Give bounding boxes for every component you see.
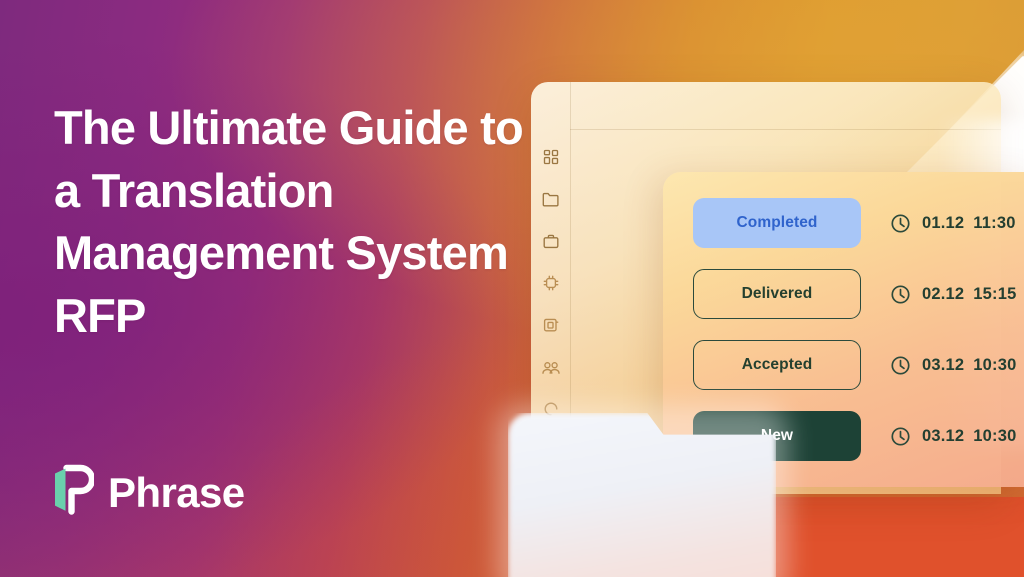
promo-banner: Completed 01.1211:30 Delivered bbox=[0, 0, 1024, 577]
clock-icon bbox=[890, 284, 911, 305]
document-p-icon bbox=[543, 317, 559, 333]
sidebar-item-documents[interactable] bbox=[538, 312, 564, 338]
timestamp-date: 01.12 bbox=[922, 214, 964, 232]
sidebar-item-automation[interactable] bbox=[538, 270, 564, 296]
timestamp-time: 15:15 bbox=[973, 285, 1016, 303]
clock-icon bbox=[890, 355, 911, 376]
brand-name: Phrase bbox=[108, 472, 245, 514]
timestamp-group: 01.1211:30 bbox=[890, 213, 1016, 234]
timestamp-date: 03.12 bbox=[922, 356, 964, 374]
chip-icon bbox=[543, 275, 559, 291]
status-badge[interactable]: Delivered bbox=[693, 269, 861, 319]
timestamp-group: 03.1210:30 bbox=[890, 355, 1017, 376]
status-badge[interactable]: Accepted bbox=[693, 340, 861, 390]
users-icon bbox=[542, 361, 560, 374]
sidebar-item-jobs[interactable] bbox=[538, 228, 564, 254]
clock-icon bbox=[890, 213, 911, 234]
status-row[interactable]: Completed 01.1211:30 bbox=[693, 198, 1024, 248]
brand-logo: Phrase bbox=[52, 464, 245, 521]
sidebar-item-team[interactable] bbox=[538, 354, 564, 380]
grid-dashboard-icon bbox=[543, 149, 559, 165]
page-title: The Ultimate Guide to a Translation Mana… bbox=[54, 97, 534, 347]
orange-block-shape bbox=[754, 497, 1024, 577]
status-row[interactable]: Accepted 03.1210:30 bbox=[693, 340, 1024, 390]
timestamp-text: 02.1215:15 bbox=[922, 285, 1017, 304]
sidebar-item-projects[interactable] bbox=[538, 186, 564, 212]
timestamp-text: 01.1211:30 bbox=[922, 214, 1016, 233]
timestamp-time: 11:30 bbox=[973, 214, 1015, 232]
bottom-folder-shape bbox=[508, 413, 776, 577]
timestamp-date: 03.12 bbox=[922, 427, 964, 445]
topbar-divider bbox=[570, 129, 1001, 130]
timestamp-time: 10:30 bbox=[973, 427, 1016, 445]
timestamp-date: 02.12 bbox=[922, 285, 964, 303]
sidebar-item-dashboard[interactable] bbox=[538, 144, 564, 170]
briefcase-icon bbox=[543, 234, 559, 249]
status-badge[interactable]: Completed bbox=[693, 198, 861, 248]
timestamp-group: 02.1215:15 bbox=[890, 284, 1017, 305]
timestamp-text: 03.1210:30 bbox=[922, 427, 1017, 446]
status-row[interactable]: Delivered 02.1215:15 bbox=[693, 269, 1024, 319]
folder-icon bbox=[542, 192, 559, 207]
timestamp-text: 03.1210:30 bbox=[922, 356, 1017, 375]
clock-icon bbox=[890, 426, 911, 447]
timestamp-group: 03.1210:30 bbox=[890, 426, 1017, 447]
phrase-logo-icon bbox=[52, 464, 94, 521]
timestamp-time: 10:30 bbox=[973, 356, 1016, 374]
